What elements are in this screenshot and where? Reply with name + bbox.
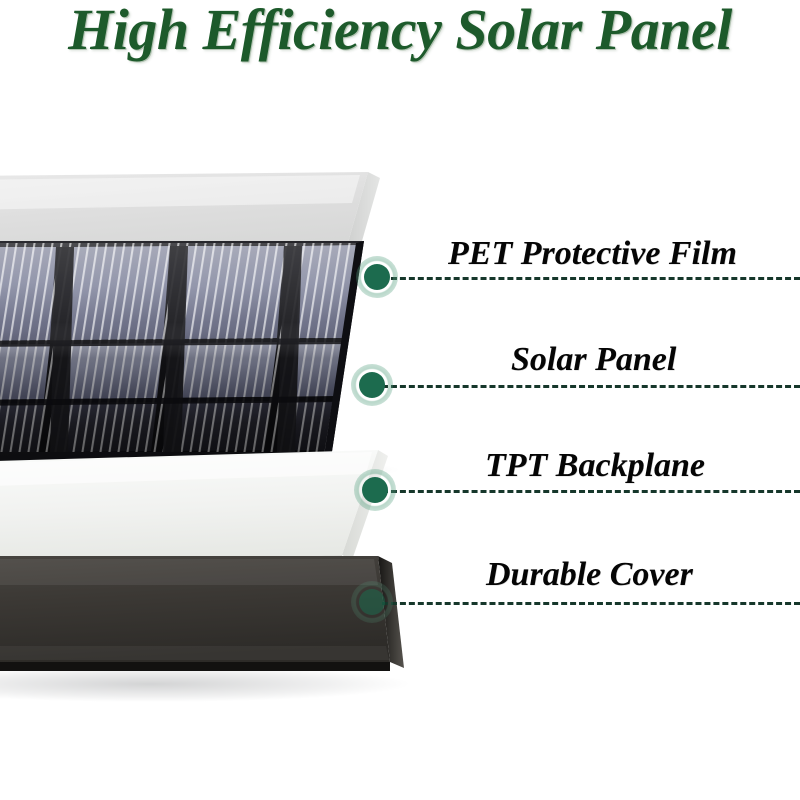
callout-label-solar-panel: Solar Panel bbox=[511, 341, 676, 379]
solar-panel-exploded-illustration bbox=[0, 0, 800, 800]
durable-cover-front-edge bbox=[0, 662, 390, 671]
solar-cell-grid bbox=[0, 243, 362, 453]
leader-line-solar-panel bbox=[382, 385, 800, 388]
leader-line-tpt-backplane bbox=[382, 490, 800, 493]
solar-cell-light-wash bbox=[0, 243, 362, 452]
leader-line-pet-protective-film bbox=[382, 277, 800, 280]
durable-cover-bottom-sheen bbox=[0, 646, 389, 660]
layer-marker-dot-icon-solar-panel bbox=[351, 364, 393, 406]
layer-solar-panel bbox=[0, 241, 364, 474]
product-infographic: High Efficiency Solar Panel bbox=[0, 0, 800, 800]
callout-label-tpt-backplane: TPT Backplane bbox=[485, 447, 705, 485]
layer-marker-dot-icon-durable-cover bbox=[351, 581, 393, 623]
callout-label-durable-cover: Durable Cover bbox=[486, 556, 693, 594]
layer-durable-cover bbox=[0, 556, 404, 671]
callout-label-pet-protective-film: PET Protective Film bbox=[448, 235, 737, 273]
layer-marker-dot-icon-pet-protective-film bbox=[356, 256, 398, 298]
leader-line-durable-cover bbox=[382, 602, 800, 605]
durable-cover-highlight bbox=[0, 559, 378, 585]
drop-shadow-lower bbox=[0, 666, 410, 702]
layer-marker-dot-icon-tpt-backplane bbox=[354, 469, 396, 511]
